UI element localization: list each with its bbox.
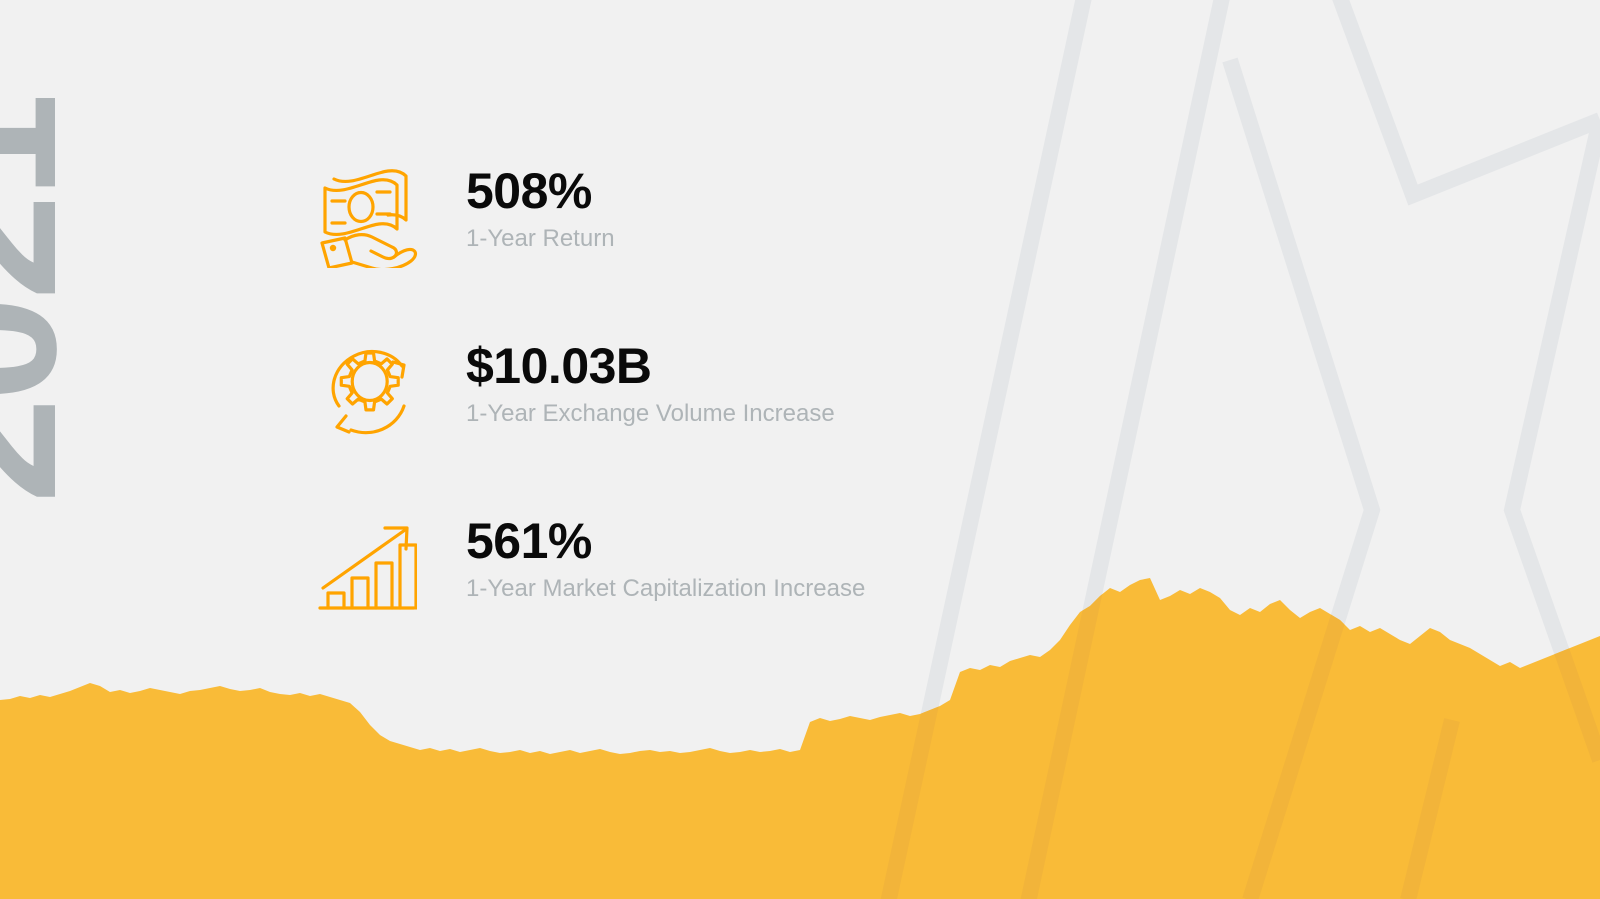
year-label-block: 2021 — [0, 150, 300, 650]
gear-refresh-icon — [310, 335, 422, 447]
stat-label: 1-Year Exchange Volume Increase — [466, 398, 835, 430]
stat-text: $10.03B 1-Year Exchange Volume Increase — [466, 335, 835, 430]
infographic-canvas: 2021 — [0, 0, 1600, 899]
stat-value: 508% — [466, 166, 615, 217]
bar-chart-growth-arrow-icon — [310, 510, 422, 622]
stat-text: 508% 1-Year Return — [466, 160, 615, 255]
stat-value: 561% — [466, 516, 865, 567]
stat-text: 561% 1-Year Market Capitalization Increa… — [466, 510, 865, 605]
year-label: 2021 — [0, 50, 80, 550]
stat-value: $10.03B — [466, 341, 835, 392]
stat-row: 508% 1-Year Return — [310, 160, 1010, 278]
stat-row: $10.03B 1-Year Exchange Volume Increase — [310, 335, 1010, 453]
stat-label: 1-Year Return — [466, 223, 615, 255]
stat-row: 561% 1-Year Market Capitalization Increa… — [310, 510, 1010, 628]
cash-in-hand-icon — [310, 160, 422, 272]
statistics-list: 508% 1-Year Return — [310, 160, 1010, 628]
stat-label: 1-Year Market Capitalization Increase — [466, 573, 865, 605]
